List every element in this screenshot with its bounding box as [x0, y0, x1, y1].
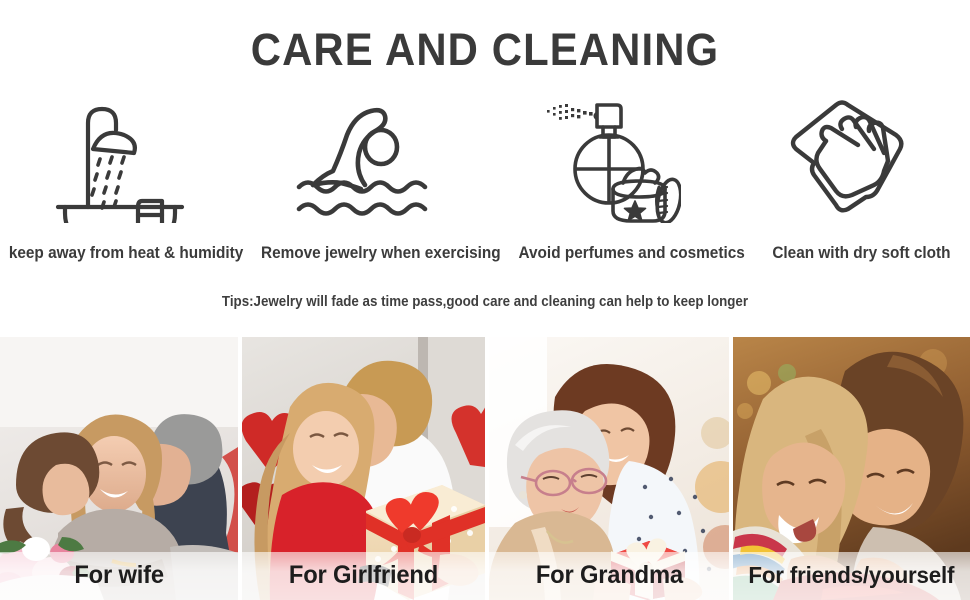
- care-caption-dry-soft-cloth: Clean with dry soft cloth: [761, 240, 963, 266]
- gift-caption-band-wife: For wife: [0, 552, 238, 600]
- care-caption-row: keep away from heat & humidity Remove je…: [0, 240, 970, 266]
- swimmer-icon: [289, 97, 439, 223]
- care-icon-row: [0, 96, 970, 224]
- perfume-cosmetics-icon: [531, 97, 681, 223]
- gift-panel-wife: For wife: [0, 337, 238, 600]
- gift-caption-girlfriend: For Girlfriend: [289, 561, 438, 590]
- gift-caption-wife: For wife: [74, 561, 164, 590]
- gift-photo-strip: For wife: [0, 337, 970, 600]
- bathtub-shower-icon: [46, 97, 196, 223]
- gift-caption-friends: For friends/yourself: [749, 562, 955, 589]
- care-item-heat-humidity: [0, 96, 243, 224]
- hand-wiping-cloth-icon: [774, 97, 924, 223]
- gift-caption-grandma: For Grandma: [535, 561, 682, 590]
- care-caption-heat-humidity: keep away from heat & humidity: [9, 240, 244, 266]
- care-and-cleaning-page: CARE AND CLEANING: [0, 0, 970, 600]
- care-item-exercising: [243, 96, 486, 224]
- gift-panel-friends: For friends/yourself: [733, 337, 970, 600]
- gift-caption-band-girlfriend: For Girlfriend: [242, 552, 485, 600]
- gift-caption-band-grandma: For Grandma: [489, 552, 729, 600]
- tips-text: Tips:Jewelry will fade as time pass,good…: [39, 294, 931, 310]
- gift-panel-grandma: For Grandma: [489, 337, 729, 600]
- care-caption-exercising: Remove jewelry when exercising: [261, 240, 501, 266]
- care-item-perfumes-cosmetics: [485, 96, 728, 224]
- care-caption-perfumes-cosmetics: Avoid perfumes and cosmetics: [518, 240, 744, 266]
- gift-caption-band-friends: For friends/yourself: [733, 552, 970, 600]
- gift-panel-girlfriend: For Girlfriend: [242, 337, 485, 600]
- care-item-dry-soft-cloth: [728, 96, 970, 224]
- page-title: CARE AND CLEANING: [34, 24, 936, 76]
